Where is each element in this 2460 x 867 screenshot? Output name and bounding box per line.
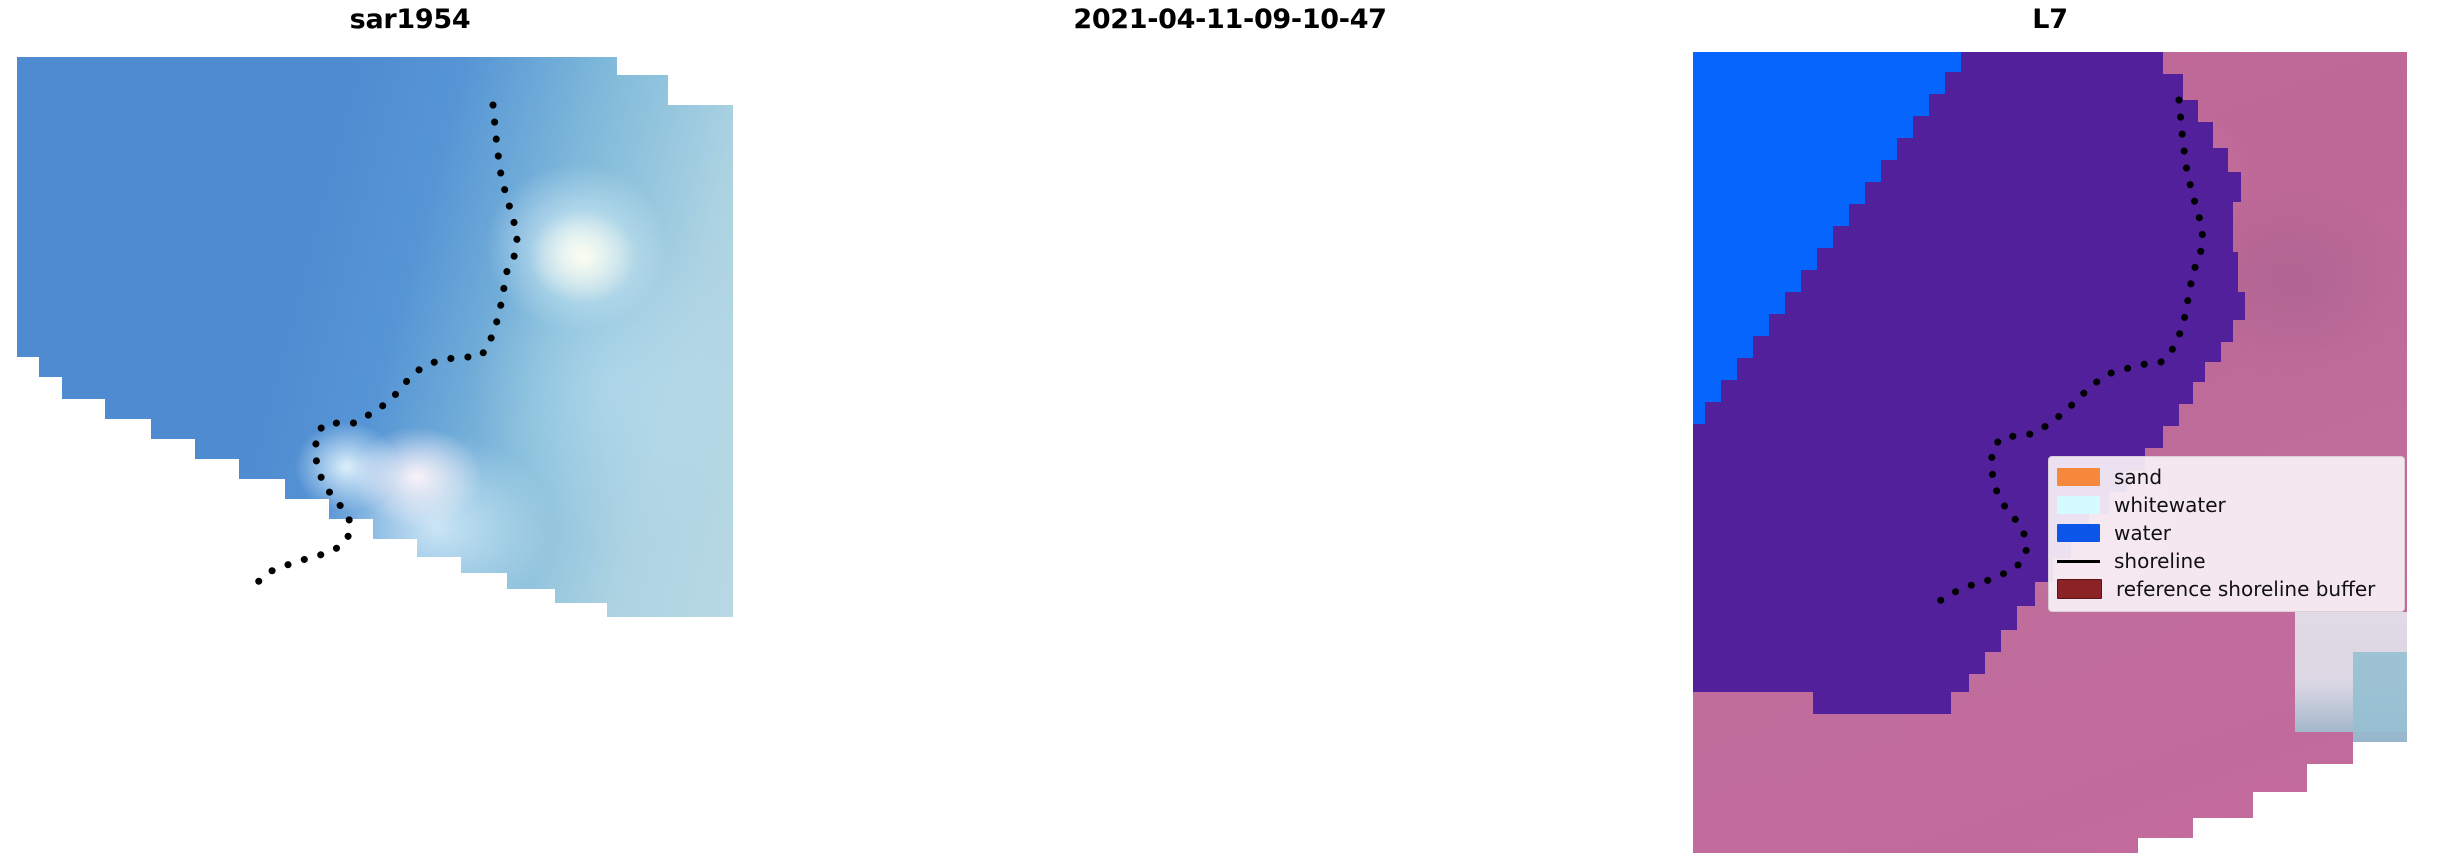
panel-title-classified: 2021-04-11-09-10-47 — [820, 0, 1640, 40]
panel-title-sar1954: sar1954 — [0, 0, 820, 40]
raster-image-sar1954 — [17, 57, 733, 617]
figure-canvas: sar1954 20 — [0, 0, 2460, 867]
nodata-step — [17, 603, 607, 617]
panel-l7: L7 — [1640, 0, 2460, 867]
panel-title-l7: L7 — [1640, 0, 2460, 40]
panel-classified: 2021-04-11-09-10-47 — [820, 0, 1640, 867]
nodata-step — [668, 57, 733, 105]
panel-sar1954: sar1954 — [0, 0, 820, 867]
